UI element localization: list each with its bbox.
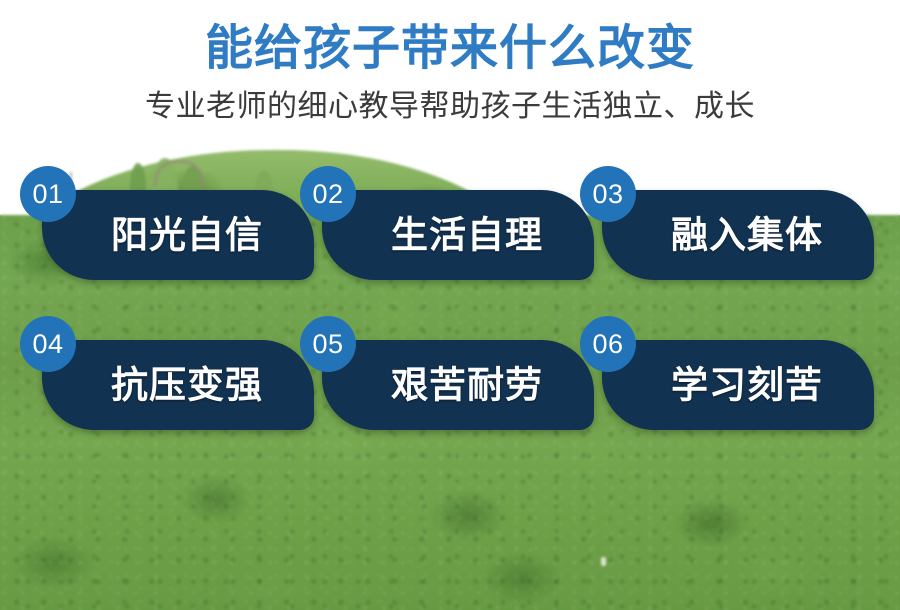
card-label-04: 抗压变强: [42, 367, 314, 404]
benefit-card-grid: 01 阳光自信 02 生活自理 03 融入集体 04 抗压变强 05 艰苦耐劳: [0, 190, 900, 490]
benefit-card-06[interactable]: 06 学习刻苦: [602, 340, 874, 430]
card-number-badge-05: 05: [300, 316, 356, 372]
card-label-06: 学习刻苦: [602, 367, 874, 404]
benefit-card-05[interactable]: 05 艰苦耐劳: [322, 340, 594, 430]
benefit-card-01[interactable]: 01 阳光自信: [42, 190, 314, 280]
card-row-1: 01 阳光自信 02 生活自理 03 融入集体: [0, 190, 900, 340]
card-label-02: 生活自理: [322, 217, 594, 254]
benefit-card-02[interactable]: 02 生活自理: [322, 190, 594, 280]
card-number-badge-06: 06: [580, 316, 636, 372]
benefit-card-03[interactable]: 03 融入集体: [602, 190, 874, 280]
card-row-2: 04 抗压变强 05 艰苦耐劳 06 学习刻苦: [0, 340, 900, 490]
card-number-badge-03: 03: [580, 166, 636, 222]
promo-poster: 能给孩子带来什么改变 专业老师的细心教导帮助孩子生活独立、成长 01 阳光自信 …: [0, 0, 900, 610]
poster-header: 能给孩子带来什么改变 专业老师的细心教导帮助孩子生活独立、成长: [0, 0, 900, 125]
card-label-05: 艰苦耐劳: [322, 367, 594, 404]
page-subtitle: 专业老师的细心教导帮助孩子生活独立、成长: [0, 77, 900, 125]
light-fleck: [601, 557, 606, 566]
card-number-badge-04: 04: [20, 316, 76, 372]
page-title: 能给孩子带来什么改变: [0, 0, 900, 77]
card-label-03: 融入集体: [602, 217, 874, 254]
card-number-badge-01: 01: [20, 166, 76, 222]
card-number-badge-02: 02: [300, 166, 356, 222]
card-label-01: 阳光自信: [42, 217, 314, 254]
benefit-card-04[interactable]: 04 抗压变强: [42, 340, 314, 430]
